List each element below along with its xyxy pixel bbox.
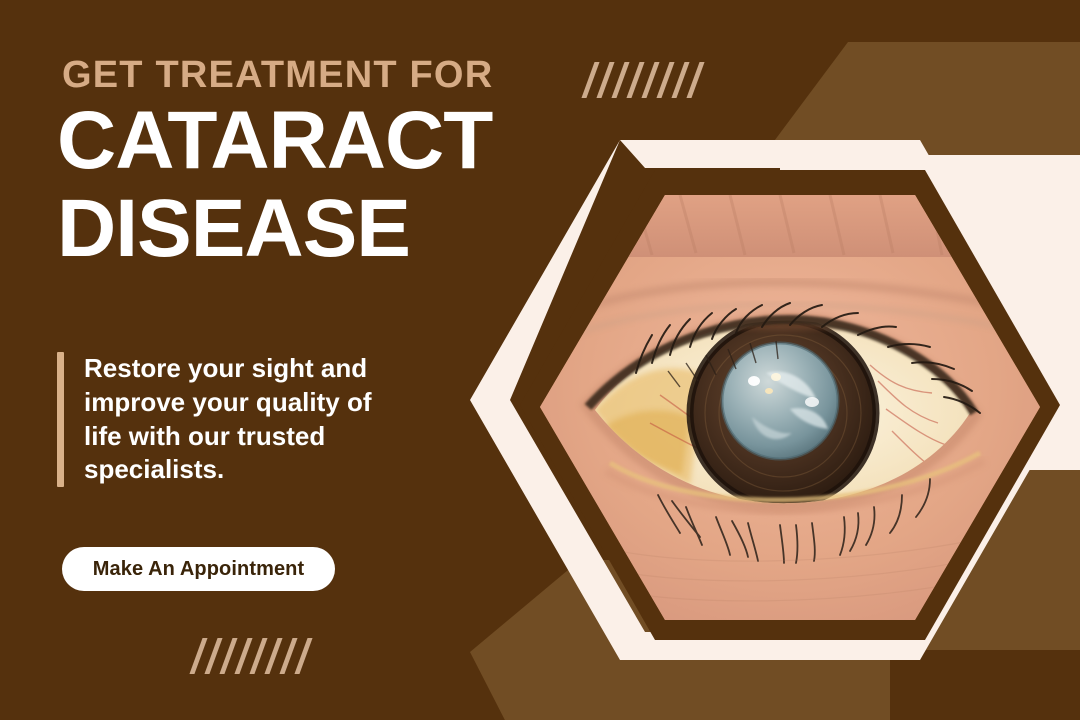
cataract-promo-banner: GET TREATMENT FOR CATARACT DISEASE Resto… (0, 0, 1080, 720)
headline-line-2: DISEASE (57, 188, 410, 270)
subheadline-block: Restore your sight and improve your qual… (57, 352, 404, 487)
decorative-slashes-bottom (196, 638, 306, 674)
make-an-appointment-button[interactable]: Make An Appointment (62, 547, 335, 591)
decorative-slashes-top (588, 62, 698, 98)
headline-line-1: CATARACT (57, 100, 492, 182)
subheadline-text: Restore your sight and improve your qual… (84, 352, 404, 487)
background-shape-top-slab (760, 0, 1080, 160)
subheadline-accent-bar (57, 352, 64, 487)
eyebrow-text: GET TREATMENT FOR (62, 56, 493, 94)
